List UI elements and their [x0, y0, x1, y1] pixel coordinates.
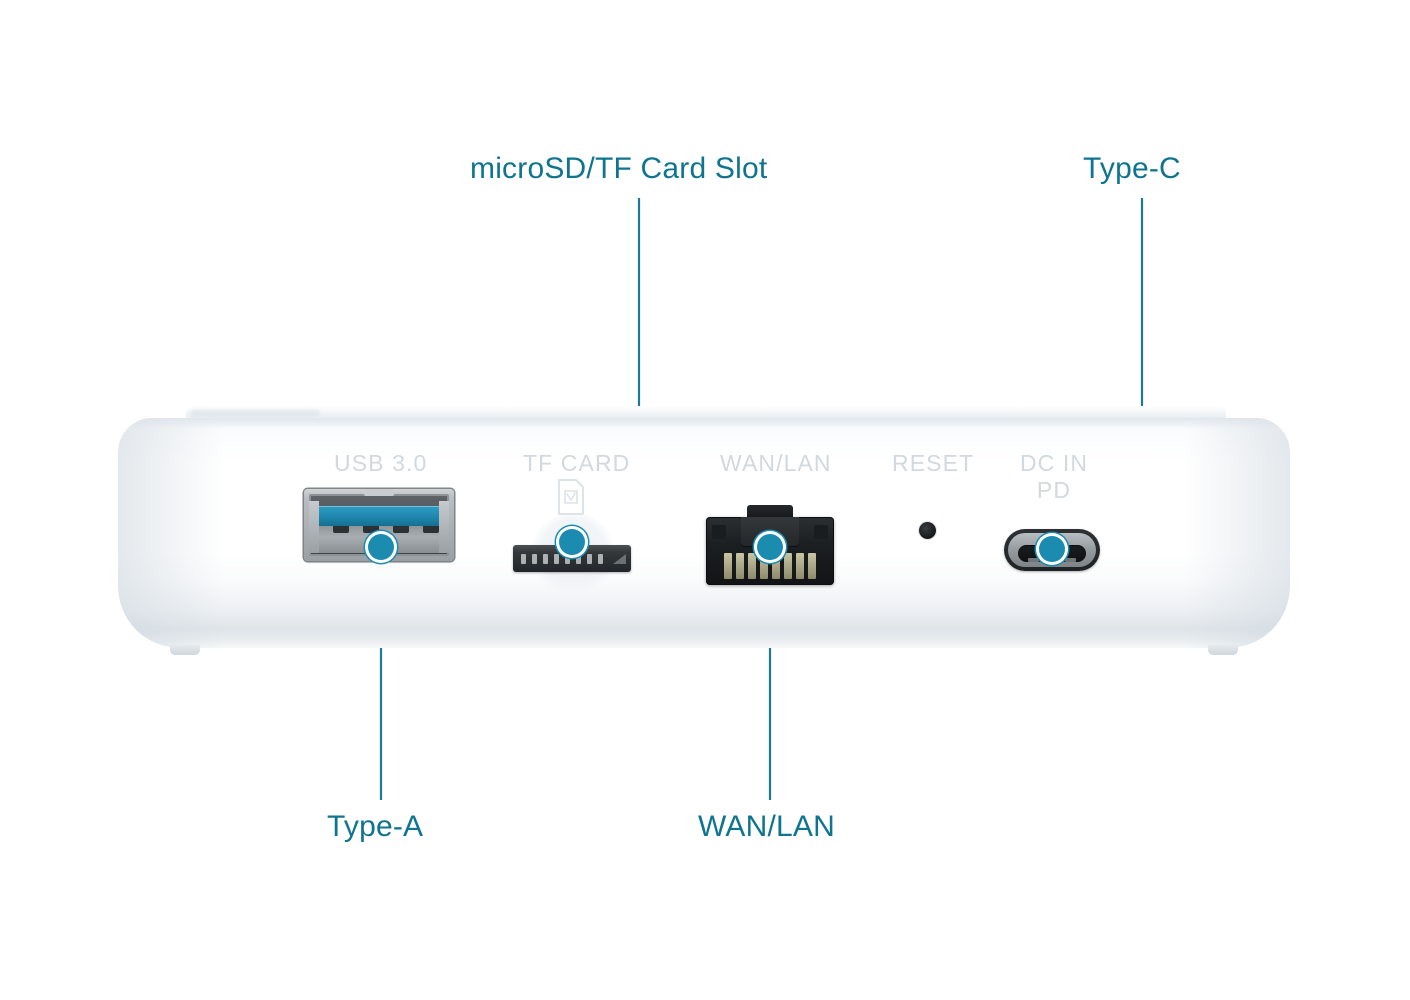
- callout-dot-wanlan: [757, 534, 783, 560]
- usb-a-pin: [393, 526, 409, 533]
- tf-slot-pin: [576, 554, 581, 564]
- usb-a-side-post: [309, 501, 319, 553]
- tf-slot-pin: [521, 554, 526, 564]
- usb-a-pin: [363, 526, 379, 533]
- port-label-dcin-line2: PD: [1018, 477, 1090, 504]
- callout-label-typea: Type-A: [327, 812, 423, 842]
- tf-slot-pin: [543, 554, 548, 564]
- rj45-contact-pin: [724, 553, 732, 579]
- tf-slot-pin: [565, 554, 570, 564]
- callout-label-wanlan: WAN/LAN: [698, 812, 835, 842]
- reset-pinhole[interactable]: [919, 522, 936, 539]
- tf-slot-pin: [532, 554, 537, 564]
- tf-slot-pin: [554, 554, 559, 564]
- device-foot-right: [1208, 645, 1238, 655]
- callout-label-typec: Type-C: [1083, 154, 1181, 184]
- port-label-wan: WAN/LAN: [720, 450, 832, 477]
- rj45-contact-pin: [796, 553, 804, 579]
- product-callout-diagram: microSD/TF Card Slot Type-C Type-A WAN/L…: [0, 0, 1410, 1000]
- usb-a-side-post: [439, 501, 449, 553]
- usb-c-notch: [1028, 558, 1039, 562]
- rj45-contact-pin: [808, 553, 816, 579]
- port-label-reset: RESET: [892, 450, 974, 477]
- callout-label-microsd: microSD/TF Card Slot: [470, 154, 767, 184]
- callout-dot-microsd: [559, 529, 585, 555]
- port-label-usb: USB 3.0: [334, 450, 427, 477]
- tf-slot-keyed-corner: [613, 554, 626, 564]
- rj45-contact-pin: [736, 553, 744, 579]
- tf-slot-pin: [598, 554, 603, 564]
- usb-a-blue-tongue: [317, 506, 441, 526]
- port-label-dcin: DC IN PD: [1018, 450, 1090, 504]
- router-device-body: [118, 418, 1290, 648]
- device-front-face: [118, 418, 1290, 648]
- usb-a-shell-notch: [364, 489, 394, 496]
- rj45-shoulder: [814, 525, 828, 539]
- memory-card-icon: [556, 479, 586, 517]
- tf-slot-pin: [587, 554, 592, 564]
- device-foot-left: [170, 645, 200, 655]
- port-label-dcin-line1: DC IN: [1018, 450, 1090, 477]
- port-label-tf: TF CARD: [523, 450, 630, 477]
- usb-a-pin: [333, 526, 349, 533]
- usb-a-pin: [423, 526, 439, 533]
- usb-c-notch: [1065, 558, 1076, 562]
- callout-dot-typea: [368, 534, 394, 560]
- rj45-contact-pin: [748, 553, 756, 579]
- callout-dot-typec: [1039, 536, 1065, 562]
- rj45-contact-pin: [784, 553, 792, 579]
- rj45-shoulder: [712, 525, 726, 539]
